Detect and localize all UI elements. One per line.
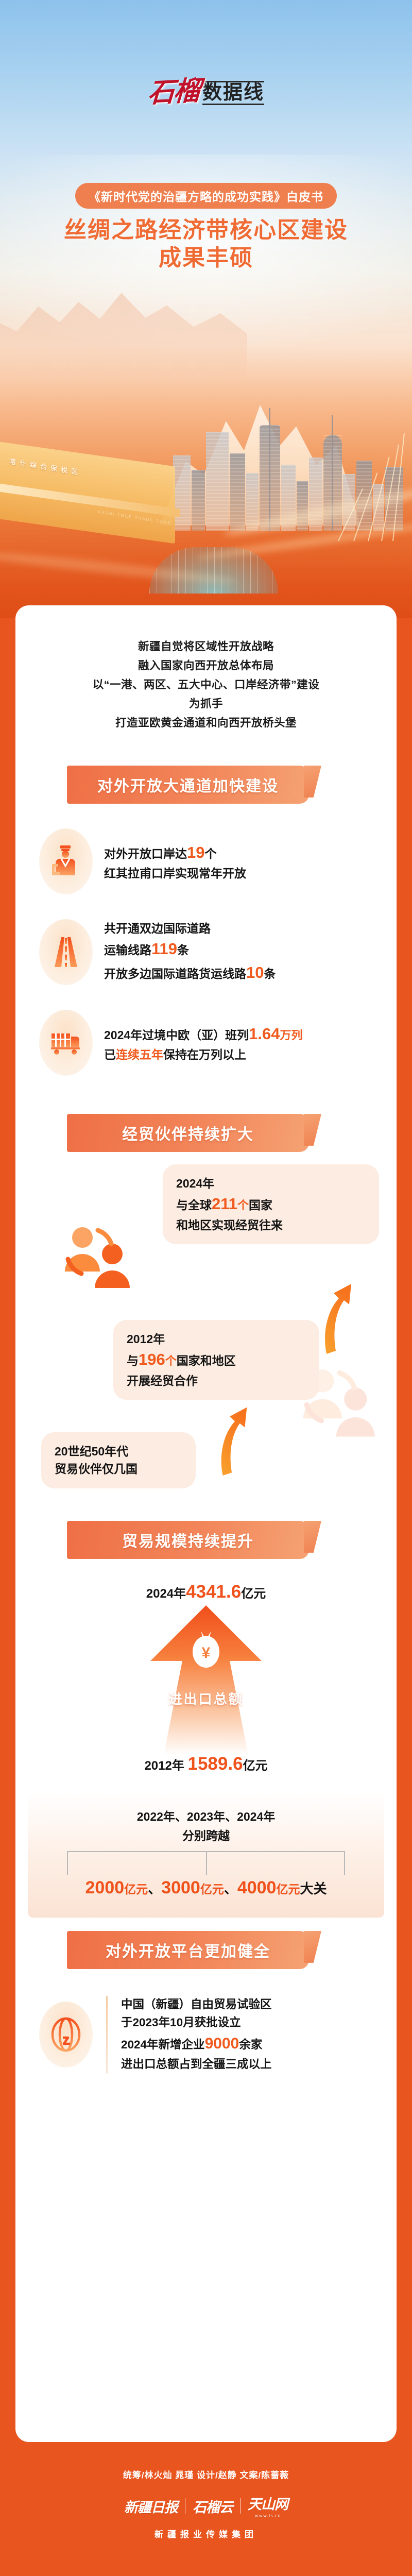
bubble-2024-pre: 与全球 bbox=[176, 1198, 212, 1212]
trains-line1: 2024年过境中欧（亚）班列1.64万列 bbox=[104, 1022, 303, 1046]
arrow-label: 进出口总额 bbox=[15, 1689, 397, 1708]
brand-divider-1 bbox=[185, 2498, 185, 2514]
bubble-2012: 2012年 与196个国家和地区 开展经贸合作 bbox=[113, 1320, 319, 1400]
page-title-line1: 丝绸之路经济带核心区建设 bbox=[64, 217, 348, 243]
bubble-2024-year: 2024年 bbox=[176, 1175, 366, 1193]
bubble-2024-line2: 与全球211个国家 bbox=[176, 1192, 366, 1216]
roads-line1: 共开通双边国际道路 bbox=[104, 920, 276, 937]
logo-calligraphy: 石榴 bbox=[147, 78, 200, 107]
intro-line-4: 为抓手 bbox=[36, 694, 376, 714]
page-title-line2: 成果丰硕 bbox=[0, 244, 412, 272]
distant-mountains bbox=[0, 268, 247, 381]
trains-line2: 已连续五年保持在万列以上 bbox=[104, 1046, 303, 1063]
milestone-value-1: 2000 bbox=[85, 1878, 125, 1897]
trains-highlight: 连续五年 bbox=[116, 1048, 163, 1061]
partners-2012-count: 196 bbox=[139, 1350, 165, 1368]
brand-tianshan-url: www.ts.cn bbox=[248, 2513, 288, 2519]
partners-diagram: 2024年 与全球211个国家 和地区实现经贸往来 2012年 bbox=[15, 1160, 397, 1500]
platform-text: 中国（新疆）自由贸易试验区 于2023年10月获批设立 2024年新增企业900… bbox=[121, 1996, 272, 2074]
ports-line2: 红其拉甫口岸实现常年开放 bbox=[104, 865, 246, 882]
svg-text:¥: ¥ bbox=[202, 1645, 211, 1662]
stat-text-roads: 共开通双边国际道路 运输线路119条 开放多边国际道路货运线路10条 bbox=[104, 920, 276, 985]
ports-unit: 个 bbox=[204, 847, 216, 860]
logo-box: 数据线 bbox=[202, 81, 264, 106]
brand-divider-2 bbox=[240, 2498, 241, 2514]
brand-shiliuyun[interactable]: 石榴云 bbox=[193, 2496, 233, 2516]
milestone-value-3: 4000 bbox=[237, 1878, 277, 1897]
hero-banner: 喀什综合保税区 KASHI FREE TRADE ZONE 石榴 数据线 《新时… bbox=[0, 0, 412, 618]
partners-2024-unit: 个 bbox=[237, 1199, 249, 1212]
milestone-unit-2: 亿元 bbox=[200, 1883, 224, 1896]
milestone-suffix: 大关 bbox=[300, 1881, 327, 1896]
stat-row-trains: 2024年过境中欧（亚）班列1.64万列 已连续五年保持在万列以上 bbox=[15, 1010, 397, 1076]
bubble-2012-year: 2012年 bbox=[127, 1330, 306, 1348]
trains-line1-pre: 2024年过境中欧（亚）班列 bbox=[104, 1028, 249, 1042]
trade-2012-label: 2012年 bbox=[144, 1759, 184, 1773]
milestone-values: 2000亿元、3000亿元、4000亿元大关 bbox=[38, 1878, 374, 1898]
bubble-1950s: 20世纪50年代 贸易伙伴仅几国 bbox=[41, 1432, 196, 1488]
trade-2024-label: 2024年 bbox=[146, 1587, 186, 1601]
bubble-2012-post: 国家和地区 bbox=[177, 1354, 236, 1367]
big-growth-arrow: ¥ 进出口总额 bbox=[15, 1602, 397, 1757]
ports-count: 19 bbox=[187, 843, 204, 861]
train-count: 1.64 bbox=[249, 1025, 280, 1043]
platform-line3-post: 余家 bbox=[239, 2038, 262, 2051]
milestone-value-2: 3000 bbox=[161, 1878, 200, 1897]
roads-line2-unit: 条 bbox=[177, 943, 189, 957]
globe-icon bbox=[39, 2002, 93, 2067]
section-heading-trade-scale: 贸易规模持续提升 bbox=[67, 1521, 309, 1559]
credits-line: 统筹/林火灿 晁瑾 设计/赵静 文案/陈蔷薇 bbox=[0, 2452, 412, 2481]
platform-row: 中国（新疆）自由贸易试验区 于2023年10月获批设立 2024年新增企业900… bbox=[15, 1996, 397, 2074]
new-enterprises-count: 9000 bbox=[205, 2035, 239, 2052]
intro-paragraph: 新疆自觉将区域性开放战略 融入国家向西开放总体布局 以“一港、两区、五大中心、口… bbox=[15, 605, 397, 733]
brand-row: 新疆日报 石榴云 天山网 www.ts.cn bbox=[0, 2493, 412, 2519]
milestone-sep-1: 、 bbox=[148, 1881, 161, 1896]
customs-officer-icon bbox=[39, 828, 93, 894]
platform-divider bbox=[106, 1996, 108, 2074]
roads-line3-unit: 条 bbox=[264, 967, 276, 980]
bilateral-routes-count: 119 bbox=[151, 940, 177, 958]
brand-xinjiang-daily[interactable]: 新疆日报 bbox=[124, 2496, 178, 2516]
brand-tianshan-name: 天山网 bbox=[248, 2497, 288, 2512]
bubble-2024: 2024年 与全球211个国家 和地区实现经贸往来 bbox=[163, 1164, 379, 1245]
bubble-1950s-line1: 20世纪50年代 bbox=[55, 1443, 182, 1461]
section-heading-partners: 经贸伙伴持续扩大 bbox=[67, 1114, 309, 1152]
bubble-2012-line3: 开展经贸合作 bbox=[127, 1372, 306, 1390]
trade-2024-row: 2024年4341.6亿元 bbox=[15, 1582, 397, 1602]
milestone-head-line1: 2022年、2023年、2024年 bbox=[38, 1807, 374, 1826]
milestone-head: 2022年、2023年、2024年 分别跨越 bbox=[38, 1807, 374, 1845]
milestone-unit-3: 亿元 bbox=[276, 1883, 300, 1896]
bubble-2024-line3: 和地区实现经贸往来 bbox=[176, 1216, 366, 1234]
train-unit: 万列 bbox=[280, 1029, 303, 1042]
highway-icon bbox=[39, 919, 93, 985]
growth-arrow-upper-icon bbox=[319, 1278, 356, 1358]
intro-line-5: 打造亚欧黄金通道和向西开放桥头堡 bbox=[36, 714, 376, 733]
platform-line3-pre: 2024年新增企业 bbox=[121, 2038, 205, 2051]
trade-scale-diagram: 2024年4341.6亿元 bbox=[15, 1582, 397, 1901]
stat-row-roads: 共开通双边国际道路 运输线路119条 开放多边国际道路货运线路10条 bbox=[15, 919, 397, 985]
site-logo[interactable]: 石榴 数据线 bbox=[0, 80, 412, 105]
multilateral-routes-count: 10 bbox=[246, 963, 264, 981]
platform-line2: 于2023年10月获批设立 bbox=[121, 2014, 272, 2032]
milestone-bracket bbox=[67, 1851, 345, 1876]
trade-2024-unit: 亿元 bbox=[241, 1587, 266, 1601]
bubble-1950s-line2: 贸易伙伴仅几国 bbox=[55, 1460, 182, 1478]
trade-2024-value: 4341.6 bbox=[186, 1582, 241, 1602]
intro-line-1: 新疆自觉将区域性开放战略 bbox=[36, 637, 376, 656]
milestone-head-line2: 分别跨越 bbox=[38, 1826, 374, 1845]
ports-line1-pre: 对外开放口岸达 bbox=[104, 847, 187, 860]
trade-2012-unit: 亿元 bbox=[243, 1759, 268, 1773]
platform-line1: 中国（新疆）自由贸易试验区 bbox=[121, 1996, 272, 2014]
milestone-unit-1: 亿元 bbox=[124, 1883, 148, 1896]
section-heading-platform: 对外开放平台更加健全 bbox=[67, 1931, 309, 1969]
ports-line1: 对外开放口岸达19个 bbox=[104, 841, 246, 865]
section-heading-corridor: 对外开放大通道加快建设 bbox=[67, 766, 309, 804]
trade-2012-row: 2012年 1589.6亿元 bbox=[15, 1754, 397, 1774]
content-card: 新疆自觉将区域性开放战略 融入国家向西开放总体布局 以“一港、两区、五大中心、口… bbox=[15, 605, 397, 2442]
footer: 统筹/林火灿 晁瑾 设计/赵静 文案/陈蔷薇 新疆日报 石榴云 天山网 www.… bbox=[0, 2452, 412, 2576]
bubble-2012-pre: 与 bbox=[127, 1354, 139, 1367]
freight-train-icon bbox=[39, 1010, 93, 1076]
roads-line2-pre: 运输线路 bbox=[104, 943, 151, 957]
platform-line3: 2024年新增企业9000余家 bbox=[121, 2032, 272, 2056]
growth-arrow-lower-icon bbox=[215, 1401, 252, 1479]
partners-2012-unit: 个 bbox=[165, 1354, 177, 1367]
stat-text-trains: 2024年过境中欧（亚）班列1.64万列 已连续五年保持在万列以上 bbox=[104, 1022, 303, 1063]
media-group-name: 新疆报业传媒集团 bbox=[0, 2527, 412, 2540]
intro-line-3: 以“一港、两区、五大中心、口岸经济带”建设 bbox=[36, 675, 376, 694]
bubble-2012-line2: 与196个国家和地区 bbox=[127, 1348, 306, 1372]
roads-line2: 运输线路119条 bbox=[104, 937, 276, 961]
white-paper-tag: 《新时代党的治疆方略的成功实践》白皮书 bbox=[75, 183, 337, 209]
platform-line4: 进出口总额占到全疆三成以上 bbox=[121, 2056, 272, 2074]
intro-line-2: 融入国家向西开放总体布局 bbox=[36, 656, 376, 675]
bubble-2024-post: 国家 bbox=[249, 1198, 272, 1212]
page-title: 丝绸之路经济带核心区建设 成果丰硕 bbox=[0, 216, 412, 272]
milestone-sep-2: 、 bbox=[224, 1881, 237, 1896]
roads-line3: 开放多边国际道路货运线路10条 bbox=[104, 961, 276, 985]
logo-text: 数据线 bbox=[202, 82, 264, 104]
people-network-icon bbox=[61, 1222, 135, 1292]
brand-tianshan[interactable]: 天山网 www.ts.cn bbox=[248, 2493, 288, 2519]
stat-row-ports: 对外开放口岸达19个 红其拉甫口岸实现常年开放 bbox=[15, 828, 397, 894]
trains-line2-pre: 已 bbox=[104, 1048, 116, 1061]
trains-line2-post: 保持在万列以上 bbox=[163, 1048, 246, 1061]
roads-line3-pre: 开放多边国际道路货运线路 bbox=[104, 967, 246, 980]
infographic-poster: 喀什综合保税区 KASHI FREE TRADE ZONE 石榴 数据线 《新时… bbox=[0, 0, 412, 2576]
partners-2024-count: 211 bbox=[212, 1195, 237, 1213]
milestone-band: 2022年、2023年、2024年 分别跨越 2000亿元、3000亿元、400… bbox=[28, 1792, 384, 1918]
stat-text-ports: 对外开放口岸达19个 红其拉甫口岸实现常年开放 bbox=[104, 841, 246, 882]
